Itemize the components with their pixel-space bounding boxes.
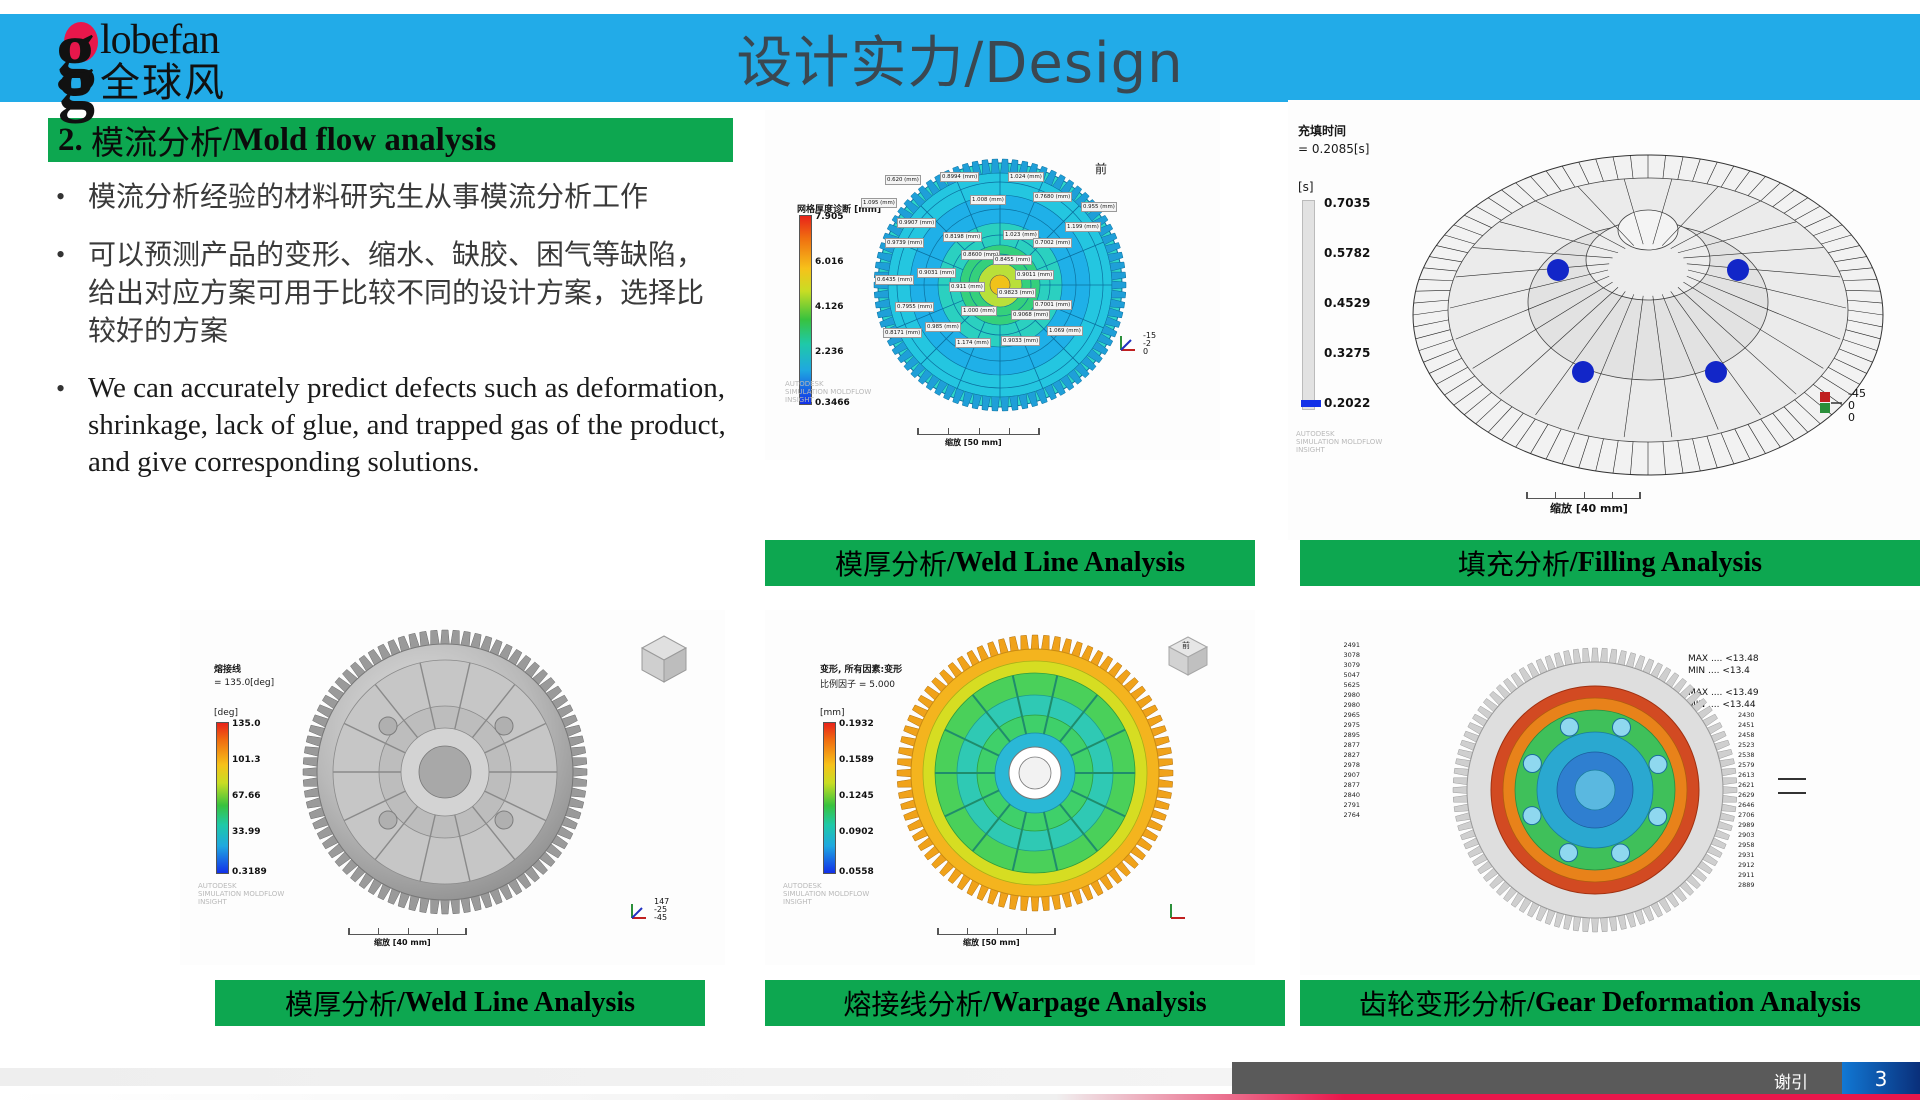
warpage-gear-render <box>885 628 1185 918</box>
scale-label: 缩放 [40 mm] <box>1550 500 1628 516</box>
caption-en: Weld Line Analysis <box>955 547 1185 579</box>
caption-cn: 模厚分析 <box>285 983 397 1023</box>
mesh-thickness-tag: 0.7680 (mm) <box>1033 192 1072 202</box>
mesh-thickness-tag: 0.8455 (mm) <box>993 255 1032 265</box>
value-label: 2621 <box>1738 780 1796 790</box>
legend-unit: [mm] <box>820 708 845 718</box>
legend-value: 0.5782 <box>1324 246 1370 260</box>
mesh-thickness-tag: 1.008 (mm) <box>970 195 1006 205</box>
legend-value: 0.1589 <box>839 755 874 765</box>
value-label: 2827 <box>1302 750 1360 760</box>
legend-value: 0.4529 <box>1324 296 1370 310</box>
value-label: 2978 <box>1302 760 1360 770</box>
figure-weld-line-top: 网格厚度诊断 [mm] 7.905 6.016 4.126 2.236 0.34… <box>765 110 1220 460</box>
mesh-thickness-tag: 0.9907 (mm) <box>897 218 936 228</box>
divider <box>1778 792 1806 794</box>
value-label: 2458 <box>1738 730 1796 740</box>
value-label: 2491 <box>1302 640 1360 650</box>
scale-bar <box>348 928 466 935</box>
caption-weld-line-top: 模厚分析/Weld Line Analysis <box>765 540 1255 586</box>
value-label: 2579 <box>1738 760 1796 770</box>
divider <box>1778 778 1806 780</box>
bullet-text: 可以预测产品的变形、缩水、缺胶、困气等缺陷，给出对应方案可用于比较不同的设计方案… <box>88 236 728 350</box>
page-title: 设计实力/Design <box>0 18 1920 99</box>
colorbar <box>1302 200 1315 410</box>
mesh-thickness-tag: 0.9011 (mm) <box>1015 270 1054 280</box>
value-label: 3078 <box>1302 650 1360 660</box>
figure-filling: 充填时间 = 0.2085[s] [s] 0.7035 0.5782 0.452… <box>1288 100 1920 540</box>
legend-value: 0.1245 <box>839 791 874 801</box>
figure-warpage: 变形, 所有因素:变形 比例因子 = 5.000 [mm] 0.1932 0.1… <box>765 610 1255 965</box>
value-label: 2791 <box>1302 800 1360 810</box>
watermark-text: AUTODESK SIMULATION MOLDFLOW INSIGHT <box>198 882 284 906</box>
watermark-text: AUTODESK SIMULATION MOLDFLOW INSIGHT <box>785 380 871 404</box>
legend-subtitle: = 135.0[deg] <box>214 678 274 688</box>
value-label: 5047 <box>1302 670 1360 680</box>
scale-bar <box>937 928 1055 935</box>
bullet-text: 模流分析经验的材料研究生从事模流分析工作 <box>88 178 728 216</box>
value-label: 2895 <box>1302 730 1360 740</box>
legend-value: 0.2022 <box>1324 396 1370 410</box>
list-item: • 模流分析经验的材料研究生从事模流分析工作 <box>48 178 728 216</box>
value-label: 2889 <box>1738 880 1796 890</box>
axis-triad-icon <box>1167 900 1189 922</box>
legend-unit: [s] <box>1298 180 1314 194</box>
legend-value: 0.7035 <box>1324 196 1370 210</box>
scale-bar <box>917 428 1039 435</box>
legend-value: 0.3275 <box>1324 346 1370 360</box>
mesh-thickness-tag: 1.199 (mm) <box>1065 222 1101 232</box>
scale-bar <box>1526 492 1640 499</box>
footer-dark-bar <box>1232 1062 1920 1096</box>
colorbar-active-segment <box>1301 400 1321 407</box>
mesh-thickness-tag: 0.9823 (mm) <box>997 288 1036 298</box>
gear-solid-render <box>280 622 610 922</box>
caption-en: Weld Line Analysis <box>405 987 635 1019</box>
legend-title: 充填时间 <box>1298 122 1346 139</box>
list-item: • We can accurately predict defects such… <box>48 370 728 481</box>
orientation-cube-icon <box>634 630 694 686</box>
value-label: 2430 <box>1738 710 1796 720</box>
legend-value: 101.3 <box>232 755 260 765</box>
list-item: • 可以预测产品的变形、缩水、缺胶、困气等缺陷，给出对应方案可用于比较不同的设计… <box>48 236 728 350</box>
colorbar <box>216 722 229 874</box>
axis-triad-icon <box>1818 390 1844 416</box>
mesh-thickness-tag: 0.955 (mm) <box>1081 202 1117 212</box>
mesh-thickness-tag: 0.9031 (mm) <box>917 268 956 278</box>
value-label: 5625 <box>1302 680 1360 690</box>
caption-en: Warpage Analysis <box>991 987 1206 1019</box>
mesh-thickness-tag: 0.9068 (mm) <box>1011 310 1050 320</box>
mesh-thickness-tag: 0.9739 (mm) <box>885 238 924 248</box>
caption-en: Filling Analysis <box>1578 547 1762 579</box>
legend-value: 2.236 <box>815 347 843 357</box>
value-label: 2931 <box>1738 850 1796 860</box>
mesh-thickness-tag: 0.8198 (mm) <box>943 232 982 242</box>
mesh-thickness-tag: 1.095 (mm) <box>861 198 897 208</box>
section-title-bar: 2. 模流分析/Mold flow analysis <box>48 118 733 162</box>
value-label: 2911 <box>1738 870 1796 880</box>
value-label: 2538 <box>1738 750 1796 760</box>
value-label: 2903 <box>1738 830 1796 840</box>
footer-accent-stripe <box>0 1094 1920 1100</box>
mesh-thickness-tag: 1.174 (mm) <box>955 338 991 348</box>
mesh-thickness-tag: 0.985 (mm) <box>925 322 961 332</box>
mesh-thickness-tag: 0.9033 (mm) <box>1001 336 1040 346</box>
slide: g lobefan g 全球风 设计实力/Design 2. 模流分析/Mold… <box>0 0 1920 1100</box>
value-label: 2451 <box>1738 720 1796 730</box>
caption-gear-deformation: 齿轮变形分析/Gear Deformation Analysis <box>1300 980 1920 1026</box>
legend-value: 0.0902 <box>839 827 874 837</box>
value-label: 2980 <box>1302 690 1360 700</box>
legend-value: 0.3189 <box>232 867 267 877</box>
legend-value: 135.0 <box>232 719 260 729</box>
caption-cn: 模厚分析 <box>835 543 947 583</box>
value-label: 2965 <box>1302 710 1360 720</box>
mesh-thickness-tag: 0.7955 (mm) <box>895 302 934 312</box>
mesh-thickness-tag: 1.024 (mm) <box>1008 172 1044 182</box>
section-title-en: Mold flow analysis <box>232 122 496 159</box>
legend-value: 6.016 <box>815 257 843 267</box>
left-value-column: 2491307830795047562529802980296529752895… <box>1302 640 1360 820</box>
value-label: 2706 <box>1738 810 1796 820</box>
bullet-marker-icon: • <box>48 370 88 481</box>
scale-label: 缩放 [50 mm] <box>963 937 1020 948</box>
bullet-list: • 模流分析经验的材料研究生从事模流分析工作 • 可以预测产品的变形、缩水、缺胶… <box>48 178 728 501</box>
bullet-marker-icon: • <box>48 236 88 350</box>
page-number: 3 <box>1842 1062 1920 1096</box>
legend-value: 4.126 <box>815 302 843 312</box>
watermark-text: AUTODESK SIMULATION MOLDFLOW INSIGHT <box>783 882 869 906</box>
scale-label: 缩放 [40 mm] <box>374 937 431 948</box>
mesh-thickness-tag: 0.8994 (mm) <box>940 172 979 182</box>
value-label: 2877 <box>1302 740 1360 750</box>
caption-weld-line-bottom: 模厚分析/Weld Line Analysis <box>215 980 705 1026</box>
mesh-thickness-tag: 0.7002 (mm) <box>1033 238 1072 248</box>
value-label: 2764 <box>1302 810 1360 820</box>
legend-value: 7.905 <box>815 212 843 222</box>
value-label: 2958 <box>1738 840 1796 850</box>
mesh-thickness-tag: 0.911 (mm) <box>949 282 985 292</box>
legend-value: 0.0558 <box>839 867 874 877</box>
caption-cn: 熔接线分析 <box>843 983 983 1023</box>
axis-triad-icon <box>628 900 650 922</box>
bullet-marker-icon: • <box>48 178 88 216</box>
mesh-thickness-tag: 0.620 (mm) <box>885 175 921 185</box>
view-orientation-label: 前 <box>1095 160 1107 177</box>
legend-subtitle: = 0.2085[s] <box>1298 142 1369 156</box>
mesh-thickness-tag: 0.7001 (mm) <box>1033 300 1072 310</box>
value-label: 3079 <box>1302 660 1360 670</box>
logo-chinese-name: 全球风 <box>100 50 226 108</box>
filling-mesh-render <box>1398 110 1898 500</box>
value-label: 2975 <box>1302 720 1360 730</box>
mesh-thickness-tag: 0.8171 (mm) <box>883 328 922 338</box>
axis-triad-icon <box>1117 332 1139 354</box>
mesh-thickness-tag: 1.000 (mm) <box>961 306 997 316</box>
caption-filling: 填充分析/Filling Analysis <box>1300 540 1920 586</box>
legend-unit: [deg] <box>214 708 238 718</box>
value-label: 2989 <box>1738 820 1796 830</box>
section-title-cn: 模流分析 <box>91 116 223 164</box>
logo-letter-g2: g <box>58 46 95 120</box>
footer-note: 谢引 <box>1774 1068 1808 1093</box>
bullet-text: We can accurately predict defects such a… <box>88 370 728 481</box>
watermark-text: AUTODESK SIMULATION MOLDFLOW INSIGHT <box>1296 430 1382 454</box>
gear-deformation-render <box>1430 630 1760 950</box>
caption-cn: 齿轮变形分析 <box>1359 983 1527 1023</box>
legend-subtitle: 比例因子 = 5.000 <box>820 677 895 690</box>
section-number: 2. <box>58 122 83 159</box>
figure-gear-deformation: MAX .... <13.48 MIN .... <13.4 MAX .... … <box>1300 610 1920 975</box>
legend-value: 33.99 <box>232 827 260 837</box>
caption-cn: 填充分析 <box>1458 543 1570 583</box>
colorbar <box>823 722 836 874</box>
value-label: 2980 <box>1302 700 1360 710</box>
scale-label: 缩放 [50 mm] <box>945 437 1002 448</box>
value-label: 2840 <box>1302 790 1360 800</box>
right-value-column: 2430245124582523253825792613262126292646… <box>1738 710 1796 890</box>
mesh-thickness-tag: 0.6435 (mm) <box>875 275 914 285</box>
legend-value: 67.66 <box>232 791 260 801</box>
value-label: 2523 <box>1738 740 1796 750</box>
value-label: 2877 <box>1302 780 1360 790</box>
axis-values: -45 0 0 <box>1848 388 1866 424</box>
caption-en: Gear Deformation Analysis <box>1535 987 1861 1019</box>
svg-text:前: 前 <box>1182 640 1190 650</box>
mesh-thickness-tag: 1.069 (mm) <box>1047 326 1083 336</box>
colorbar <box>799 215 812 405</box>
axis-values: 147 -25 -45 <box>654 898 669 922</box>
value-label: 2646 <box>1738 800 1796 810</box>
figure-weld-line-bottom: 熔接线 = 135.0[deg] [deg] 135.0 101.3 67.66… <box>180 610 725 965</box>
orientation-cube-icon: 前 <box>1163 632 1213 678</box>
value-label: 2907 <box>1302 770 1360 780</box>
legend-title: 熔接线 <box>214 662 241 675</box>
value-label: 2912 <box>1738 860 1796 870</box>
caption-warpage: 熔接线分析/Warpage Analysis <box>765 980 1285 1026</box>
axis-values: -15 -2 0 <box>1143 332 1156 356</box>
legend-value: 0.1932 <box>839 719 874 729</box>
